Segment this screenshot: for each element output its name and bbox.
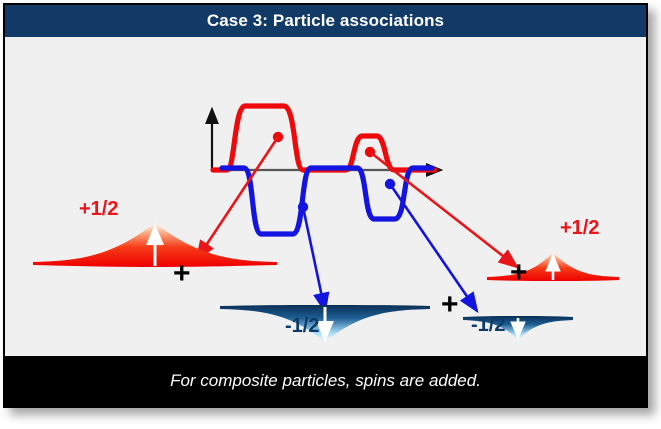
plus-sign-3: + <box>510 258 528 288</box>
label-spin-up-left: +1/2 <box>79 198 118 221</box>
slide-footer-bar: For composite particles, spins are added… <box>5 356 646 406</box>
slide-frame: Case 3: Particle associations <box>3 3 648 408</box>
red-wavefunction-curve <box>213 106 435 170</box>
label-spin-down-left: -1/2 <box>285 315 319 338</box>
callout-arrow-red-left <box>197 137 278 259</box>
footer-caption: For composite particles, spins are added… <box>170 371 481 391</box>
label-spin-down-right: -1/2 <box>471 314 505 337</box>
slide-title-bar: Case 3: Particle associations <box>5 5 646 37</box>
callout-arrow-blue-left <box>303 207 325 311</box>
page-title: Case 3: Particle associations <box>207 11 444 31</box>
plus-sign-1: + <box>173 259 191 289</box>
plot-axes <box>212 111 439 170</box>
callout-arrow-red-right <box>370 152 517 267</box>
slide-body: +1/2 +1/2 -1/2 -1/2 + + + <box>5 37 646 358</box>
label-spin-up-right: +1/2 <box>560 217 599 240</box>
plus-sign-2: + <box>441 290 459 320</box>
